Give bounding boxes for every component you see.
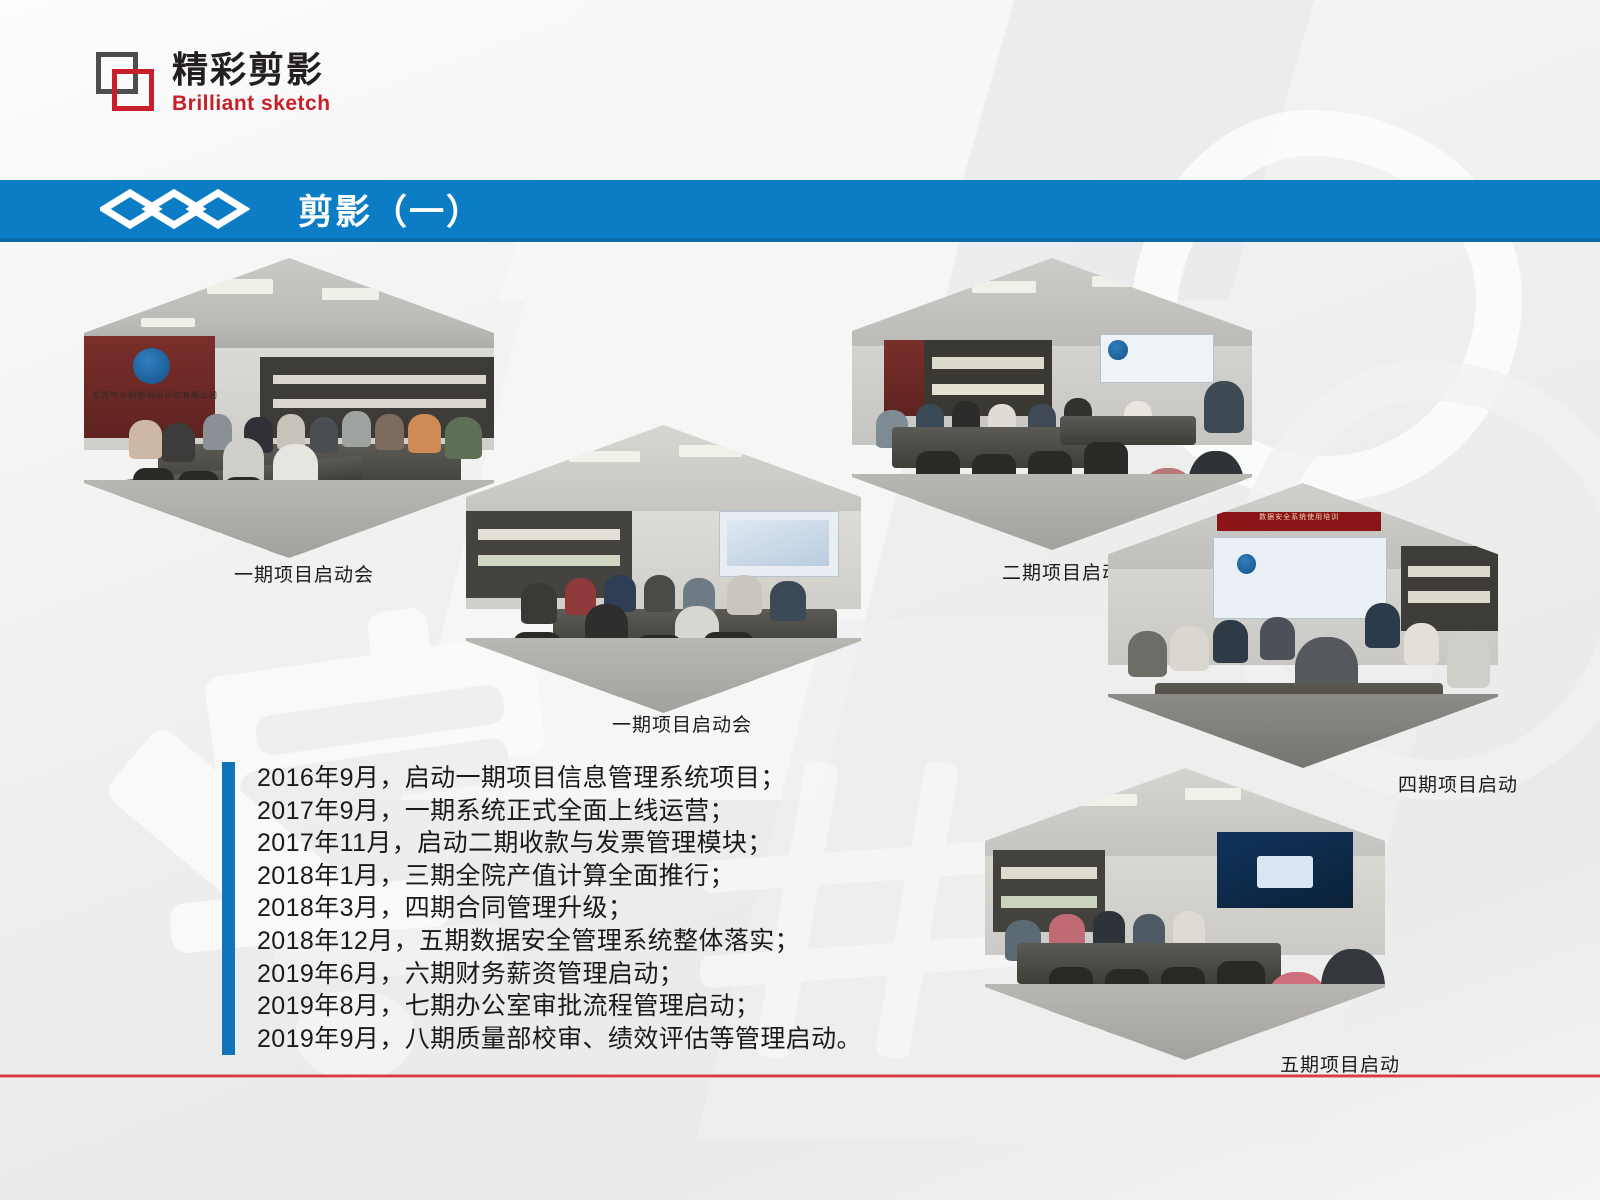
photo-caption-1: 一期项目启动会 bbox=[234, 560, 374, 587]
photo-scene bbox=[466, 425, 861, 713]
photo-hexagon-4: 数据安全系统使用培训 bbox=[1108, 483, 1498, 768]
page-title: 剪影（一） bbox=[298, 184, 483, 235]
photo-caption-5: 五期项目启动 bbox=[1280, 1050, 1400, 1077]
brand-name-cn: 精彩剪影 bbox=[172, 52, 331, 88]
timeline-line: 2018年12月，五期数据安全管理系统整体落实； bbox=[257, 925, 862, 958]
bg-diagonal-shape bbox=[500, 0, 1180, 300]
photo-hexagon-2 bbox=[466, 425, 861, 713]
timeline-line: 2016年9月，启动一期项目信息管理系统项目； bbox=[257, 762, 862, 795]
photo-scene: 东莞市水利勘测设计院有限公司 bbox=[84, 258, 494, 558]
photo-caption-4: 四期项目启动 bbox=[1398, 770, 1518, 797]
photo-hexagon-5 bbox=[985, 768, 1385, 1060]
company-sign-text: 东莞市水利勘测设计院有限公司 bbox=[92, 390, 218, 401]
timeline-line: 2017年11月，启动二期收款与发票管理模块； bbox=[257, 827, 862, 860]
photo-scene bbox=[985, 768, 1385, 1060]
photo-hexagon-3 bbox=[852, 258, 1252, 550]
footer-rule bbox=[0, 1074, 1600, 1078]
timeline-line: 2018年1月，三期全院产值计算全面推行； bbox=[257, 860, 862, 893]
photo-scene bbox=[852, 258, 1252, 550]
training-banner: 数据安全系统使用培训 bbox=[1217, 512, 1381, 532]
timeline-line: 2018年3月，四期合同管理升级； bbox=[257, 892, 862, 925]
bg-diagonal-shape bbox=[928, 0, 1331, 300]
timeline-line: 2019年6月，六期财务薪资管理启动； bbox=[257, 958, 862, 991]
overlapping-squares-logo-icon bbox=[96, 52, 158, 114]
timeline-lines: 2016年9月，启动一期项目信息管理系统项目； 2017年9月，一期系统正式全面… bbox=[235, 762, 862, 1055]
brand-logo: 精彩剪影 Brilliant sketch bbox=[96, 52, 331, 114]
slide-root: 精彩剪影 Brilliant sketch 剪影（一） 东莞 bbox=[0, 0, 1600, 1200]
section-title-band: 剪影（一） bbox=[0, 180, 1600, 242]
timeline-text-block: 2016年9月，启动一期项目信息管理系统项目； 2017年9月，一期系统正式全面… bbox=[222, 762, 862, 1055]
photo-hexagon-1: 东莞市水利勘测设计院有限公司 bbox=[84, 258, 494, 558]
photo-scene: 数据安全系统使用培训 bbox=[1108, 483, 1498, 768]
timeline-line: 2019年9月，八期质量部校审、绩效评估等管理启动。 bbox=[257, 1023, 862, 1056]
timeline-line: 2019年8月，七期办公室审批流程管理启动； bbox=[257, 990, 862, 1023]
photo-caption-3: 二期项目启动 bbox=[1002, 558, 1122, 585]
timeline-accent-bar bbox=[222, 762, 235, 1055]
timeline-line: 2017年9月，一期系统正式全面上线运营； bbox=[257, 795, 862, 828]
diamonds-icon bbox=[100, 188, 250, 230]
brand-name-en: Brilliant sketch bbox=[172, 93, 331, 114]
photo-caption-2: 一期项目启动会 bbox=[612, 710, 752, 737]
brand-logo-text: 精彩剪影 Brilliant sketch bbox=[172, 52, 331, 114]
